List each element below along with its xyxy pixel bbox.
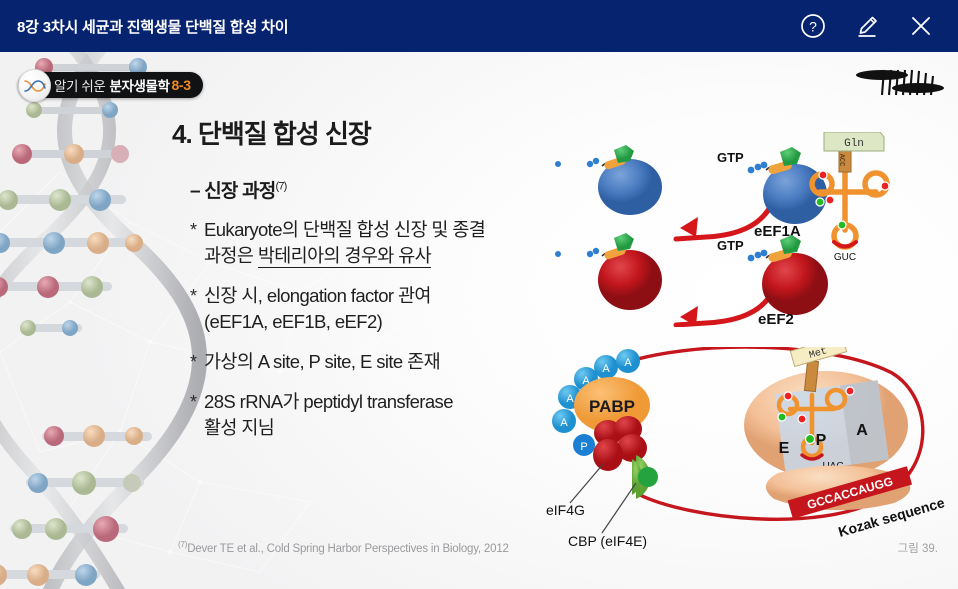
svg-text:A: A <box>566 393 574 405</box>
label-cbp: CBP (eIF4E) <box>568 533 647 549</box>
bullet-line-1: Eukaryote의 단백질 합성 신장 및 종결 <box>204 219 485 240</box>
list-item: * 28S rRNA가 peptidyl transferase 활성 지님 <box>190 389 550 441</box>
bullet-line-1: 신장 시, elongation factor 관여 <box>204 285 431 306</box>
label-gtp-2: GTP <box>717 238 744 253</box>
svg-text:?: ? <box>809 19 817 35</box>
list-item: * Eukaryote의 단백질 합성 신장 및 종결 과정은 박테리아의 경우… <box>190 217 550 269</box>
bullet-text: 신장 시, elongation factor 관여 (eEF1A, eEF1B… <box>204 283 431 335</box>
bullet-line-2: 활성 지님 <box>204 417 274 438</box>
course-logo-badge: 알기 쉬운 분자생물학 8-3 <box>18 72 203 98</box>
label-pabp: PABP <box>589 397 635 416</box>
bullet-line-1: 28S rRNA가 peptidyl transferase <box>204 391 453 412</box>
help-icon[interactable]: ? <box>798 11 828 41</box>
list-item: * 신장 시, elongation factor 관여 (eEF1A, eEF… <box>190 283 550 335</box>
bullet-list: * Eukaryote의 단백질 합성 신장 및 종결 과정은 박테리아의 경우… <box>190 217 550 455</box>
bullet-line-2: (eEF1A, eEF1B, eEF2) <box>204 311 382 332</box>
logo-text-bold: 분자생물학 <box>109 75 169 95</box>
bullet-text: Eukaryote의 단백질 합성 신장 및 종결 과정은 박테리아의 경우와 … <box>204 217 485 269</box>
citation-text: Dever TE et al., Cold Spring Harbor Pers… <box>187 543 509 555</box>
bullet-line-1: 가상의 A site, P site, E site 존재 <box>204 351 440 372</box>
logo-text-light: 알기 쉬운 <box>54 75 105 95</box>
dna-logo-icon <box>18 69 51 102</box>
bullet-text: 28S rRNA가 peptidyl transferase 활성 지님 <box>204 389 453 441</box>
svg-text:A: A <box>560 417 568 429</box>
slide-canvas: 알기 쉬운 분자생물학 8-3 4. 단백질 합성 신장 – 신장 과정(7) … <box>0 52 958 589</box>
label-gln: Gln <box>844 138 864 150</box>
slide-title: 4. 단백질 합성 신장 <box>172 114 371 151</box>
eef2-gtp-complex: GTP <box>717 235 828 315</box>
eef2-free <box>587 233 662 310</box>
bullet-marker: * <box>190 283 204 335</box>
label-site-a: A <box>856 422 868 439</box>
bullet-text: 가상의 A site, P site, E site 존재 <box>204 349 440 375</box>
label-site-p: P <box>816 432 827 449</box>
pen-icon[interactable] <box>852 11 882 41</box>
bullet-line-2-prefix: 과정은 <box>204 245 258 266</box>
leader-line-cbp <box>602 483 636 533</box>
cbp-eif4e-protein <box>632 455 658 499</box>
bullet-line-2-underlined: 박테리아의 경우와 유사 <box>258 245 431 268</box>
label-gtp-1: GTP <box>717 150 744 165</box>
bullet-marker: * <box>190 389 204 441</box>
label-guc: GUC <box>834 252 856 263</box>
svg-text:P: P <box>580 441 587 453</box>
top-header-bar: 8강 3차시 세균과 진핵생물 단백질 합성 차이 ? <box>0 0 958 52</box>
eef1a-free <box>587 145 662 215</box>
figure-closed-loop-initiation: A A A A A PABP P <box>540 347 955 552</box>
presentation-viewer: 8강 3차시 세균과 진핵생물 단백질 합성 차이 ? <box>0 0 958 589</box>
bullet-marker: * <box>190 217 204 269</box>
label-site-e: E <box>779 440 790 457</box>
amino-acid-tag-gln: Gln <box>824 132 884 151</box>
figure-elongation-factors: GTP ACC <box>552 132 952 327</box>
leader-line-eif4g <box>570 463 604 503</box>
slide-subtitle: – 신장 과정(7) <box>190 176 287 203</box>
close-icon[interactable] <box>906 11 936 41</box>
slide-subtitle-superscript: (7) <box>275 181 286 193</box>
label-acc: ACC <box>837 154 845 167</box>
label-eif4g: eIF4G <box>546 502 585 518</box>
brush-stroke-decoration <box>852 62 948 102</box>
citation-superscript: (7) <box>178 540 187 549</box>
list-item: * 가상의 A site, P site, E site 존재 <box>190 349 550 375</box>
page-title: 8강 3차시 세균과 진핵생물 단백질 합성 차이 <box>17 16 288 37</box>
slide-subtitle-text: – 신장 과정 <box>190 181 275 202</box>
label-eef2: eEF2 <box>758 311 794 327</box>
header-actions: ? <box>798 11 936 41</box>
bullet-marker: * <box>190 349 204 375</box>
logo-text-accent: 8-3 <box>172 77 191 93</box>
svg-text:A: A <box>624 357 632 369</box>
citation: (7)Dever TE et al., Cold Spring Harbor P… <box>178 540 509 555</box>
svg-text:A: A <box>602 363 610 375</box>
